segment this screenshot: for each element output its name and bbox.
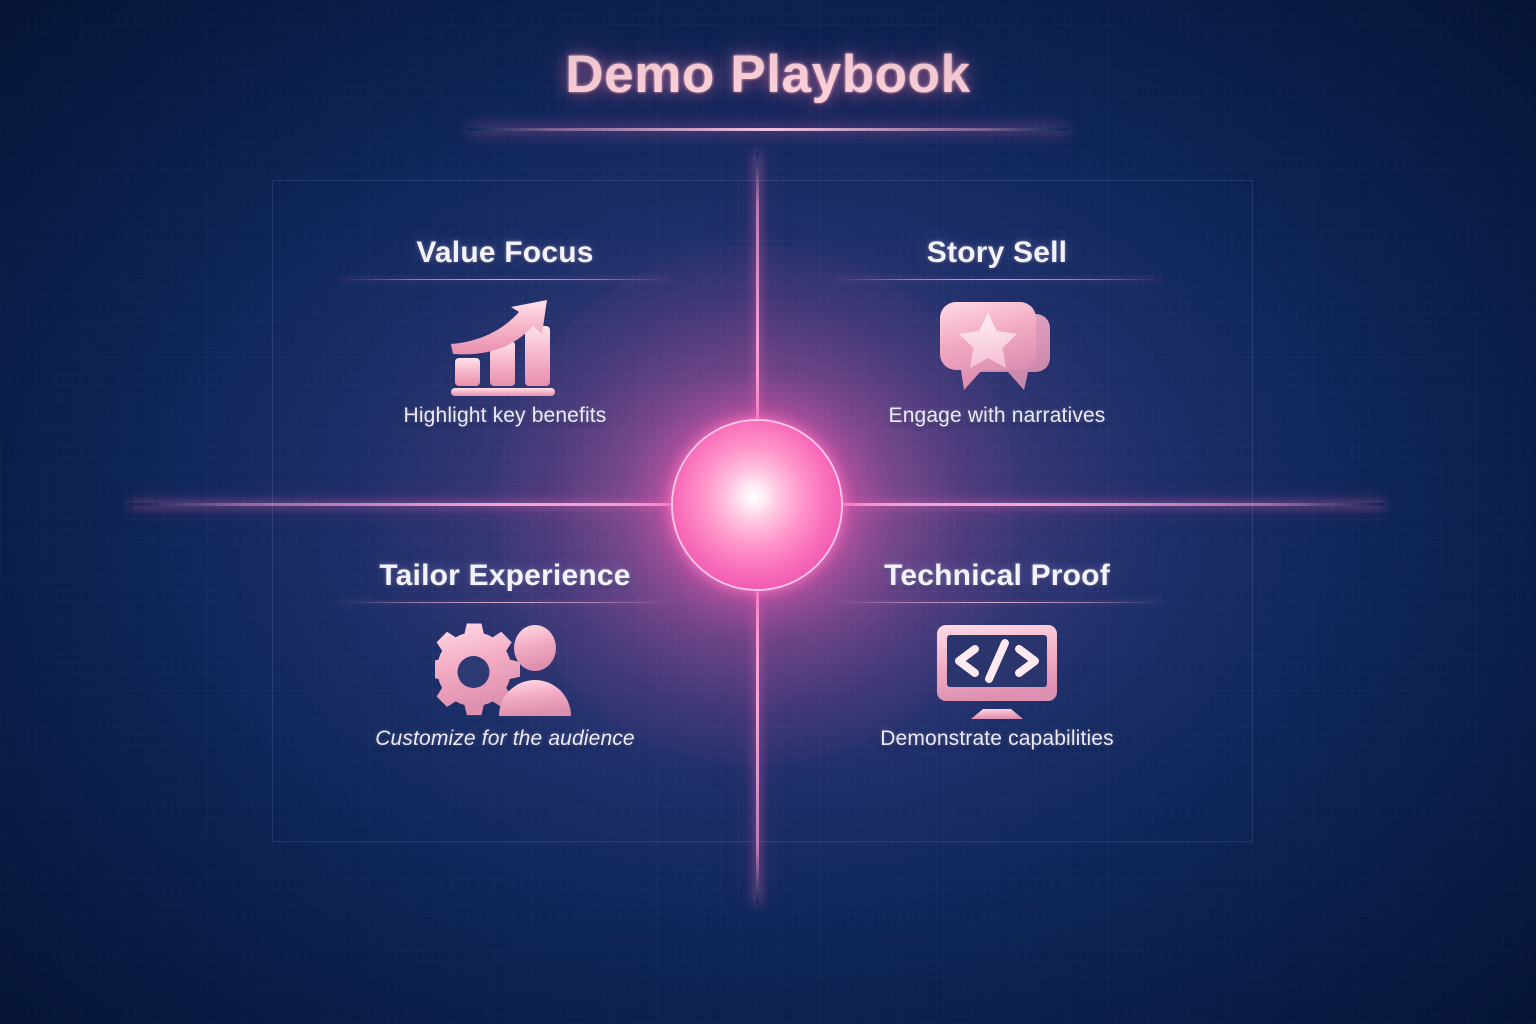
speech-bubbles-star-icon xyxy=(782,292,1212,404)
quadrant-technical-proof[interactable]: Technical Proof xyxy=(782,559,1212,751)
quadrant-caption: Customize for the audience xyxy=(290,727,720,751)
quadrant-title: Value Focus xyxy=(290,236,720,270)
page-title: Demo Playbook xyxy=(0,44,1536,105)
quadrant-title: Story Sell xyxy=(782,236,1212,270)
monitor-code-icon xyxy=(782,615,1212,727)
playbook-canvas: Demo Playbook Value Focus xyxy=(0,0,1536,1024)
quadrant-title-underline xyxy=(832,602,1162,603)
gear-person-icon xyxy=(290,615,720,727)
quadrant-title-underline xyxy=(340,602,670,603)
growth-bar-chart-icon xyxy=(290,292,720,404)
quadrant-caption: Engage with narratives xyxy=(782,404,1212,428)
quadrant-value-focus[interactable]: Value Focus Hig xyxy=(290,236,720,428)
quadrant-title-underline xyxy=(832,279,1162,280)
title-underline-glow xyxy=(468,128,1068,131)
title-block: Demo Playbook xyxy=(0,44,1536,105)
quadrant-title: Tailor Experience xyxy=(290,559,720,593)
quadrant-title: Technical Proof xyxy=(782,559,1212,593)
quadrant-title-underline xyxy=(340,279,670,280)
quadrant-story-sell[interactable]: Story Sell xyxy=(782,236,1212,428)
quadrant-caption: Highlight key benefits xyxy=(290,404,720,428)
quadrant-caption: Demonstrate capabilities xyxy=(782,727,1212,751)
quadrant-tailor-experience[interactable]: Tailor Experience xyxy=(290,559,720,751)
